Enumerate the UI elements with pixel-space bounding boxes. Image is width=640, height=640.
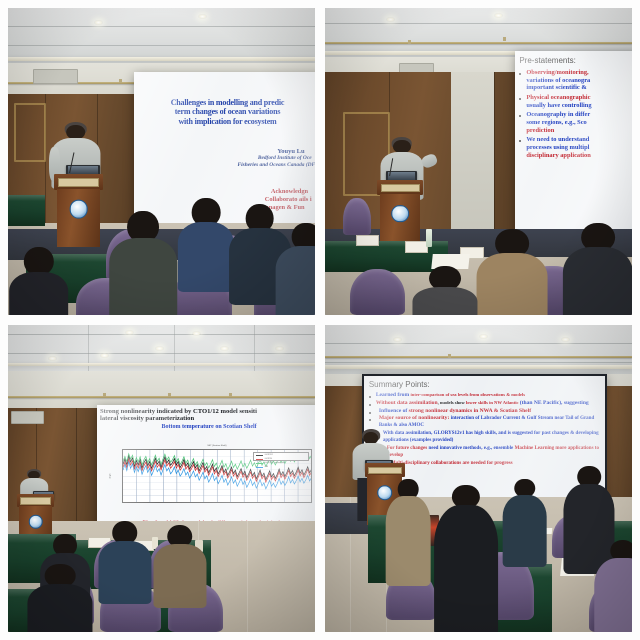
chart-title: Bottom temperature on Scotian Shelf xyxy=(100,424,315,430)
nonlinearity-slide: Strong nonlinearity indicated by CTO1/12… xyxy=(97,405,315,528)
audience-member xyxy=(112,211,173,315)
legend-label: GLORYS12 xyxy=(265,455,273,457)
bullet-item: Major source of nonlinearity: interactio… xyxy=(369,415,601,429)
audience-member xyxy=(155,525,204,605)
legend-label: GLORYS12 + no lateral visc. xyxy=(265,463,285,465)
audience-member xyxy=(595,540,632,632)
audience-member xyxy=(479,229,547,315)
slide-ack-line-1: Acknowledgn xyxy=(140,188,315,196)
bullet-item: Observing/monitoring, variations of ocea… xyxy=(519,69,632,92)
audience-member xyxy=(278,223,315,315)
podium-nameplate xyxy=(368,467,402,475)
bullet-item: For future changes need innovative metho… xyxy=(369,445,601,459)
audience-member xyxy=(414,266,475,315)
slide-title-line-1: Challenges in modelling and predic xyxy=(140,98,315,108)
podium-nameplate xyxy=(381,184,420,192)
air-vent xyxy=(33,69,78,83)
projection-screen: Strong nonlinearity indicated by CTO1/12… xyxy=(97,405,315,528)
chart-subtitle: SST (Scotian Shelf) xyxy=(122,445,313,447)
bullet-item: Learned from inter-comparison of sea lev… xyxy=(369,392,601,399)
institution-logo xyxy=(69,200,88,219)
name-card xyxy=(356,235,379,246)
legend-label: GLORYS4 xyxy=(265,459,273,461)
bullet-item: Without data assimilation, models show l… xyxy=(369,400,601,407)
chart-legend: GLORYS12 GLORYS4 GLORYS12 + no lateral v… xyxy=(253,452,310,460)
audience-member xyxy=(436,485,497,632)
audience-member xyxy=(100,521,149,601)
slide-affiliation-line-2: Fisheries and Oceans Canada (DF xyxy=(140,162,315,169)
x-axis-ticks xyxy=(122,504,313,509)
slide-title-line-2: lateral viscosity parameterization xyxy=(100,415,315,423)
y-axis-label: degC xyxy=(110,473,112,478)
panel-top-left: Challenges in modelling and predic term … xyxy=(8,8,315,315)
wall-panel xyxy=(451,72,494,244)
slide-title-line-3: with implication for ecosystem xyxy=(140,117,315,127)
panel-top-right: Pre-statements: Observing/monitoring, va… xyxy=(325,8,632,315)
podium-nameplate xyxy=(58,178,99,187)
institution-logo xyxy=(391,205,409,223)
bullet-item: Physical oceanographic usually have cont… xyxy=(519,94,632,109)
panel-bottom-left: Strong nonlinearity indicated by CTO1/12… xyxy=(8,325,315,632)
podium xyxy=(377,180,423,251)
slide-heading: Summary Points: xyxy=(369,380,601,389)
institution-logo xyxy=(28,515,43,530)
slide-author: Youyu Lu xyxy=(140,148,315,155)
slide-heading: Pre-statements: xyxy=(519,56,632,65)
ceiling xyxy=(325,8,632,57)
chair xyxy=(343,198,371,235)
slide-affiliation-line-1: Bedford Institute of Oce xyxy=(140,155,315,162)
audience-member xyxy=(386,479,429,583)
timeseries-chart: SST (Scotian Shelf) GLORYS12 GLORYS4 GLO… xyxy=(122,445,313,509)
ceiling-pipe xyxy=(325,356,632,358)
slide-title-line-1: Strong nonlinearity indicated by CTO1/12… xyxy=(100,408,315,416)
legend-label: OBS xyxy=(265,467,268,469)
name-card xyxy=(405,241,428,252)
head-table xyxy=(8,195,45,226)
bullet-item: Influence of strong nonlinear dynamics i… xyxy=(369,408,601,415)
bullet-item: Oceanography in differ some regions, e.g… xyxy=(519,111,632,134)
ceiling-beam xyxy=(8,363,315,366)
water-bottle xyxy=(426,229,432,247)
ceiling-pipe xyxy=(325,42,632,44)
bullet-item: We need to understand processes using mu… xyxy=(519,136,632,159)
pre-statements-slide: Pre-statements: Observing/monitoring, va… xyxy=(515,51,632,241)
podium xyxy=(54,174,103,248)
plot-area: GLORYS12 GLORYS4 GLORYS12 + no lateral v… xyxy=(122,449,313,503)
audience-member xyxy=(180,198,232,290)
air-vent xyxy=(11,411,44,424)
audience-member xyxy=(29,564,90,632)
ceiling-pipe xyxy=(8,396,315,398)
audience-member xyxy=(503,479,546,565)
bullet-item: With data assimilation, GLORYS12v1 has h… xyxy=(369,430,601,444)
photo-grid: Challenges in modelling and predic term … xyxy=(0,0,640,640)
podium-nameplate xyxy=(20,497,51,504)
ceiling xyxy=(8,8,315,63)
bullet-list: Observing/monitoring, variations of ocea… xyxy=(519,69,632,160)
audience-member xyxy=(564,223,632,315)
ceiling-beam xyxy=(8,57,315,61)
slide-title-line-2: term changes of ocean variations xyxy=(140,107,315,117)
audience-member xyxy=(11,247,66,315)
bullet-list: Learned from inter-comparison of sea lev… xyxy=(369,392,601,467)
chair xyxy=(350,269,405,315)
projection-screen: Pre-statements: Observing/monitoring, va… xyxy=(515,51,632,241)
panel-bottom-right: Summary Points: Learned from inter-compa… xyxy=(325,325,632,632)
